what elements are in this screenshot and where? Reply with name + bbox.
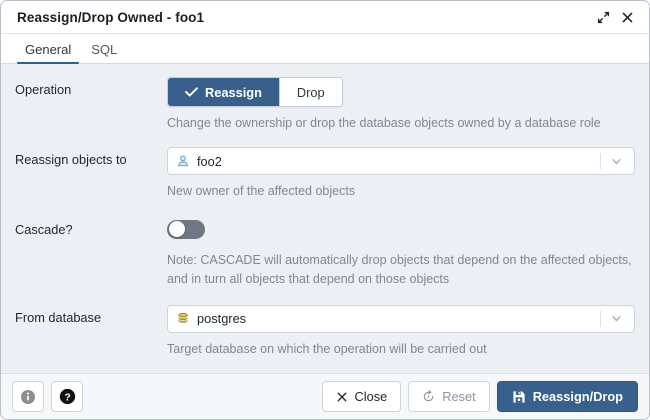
save-icon (512, 390, 526, 404)
from-database-control: postgres Target database on which the op… (167, 305, 635, 359)
field-row-cascade: Cascade? Note: CASCADE will automaticall… (15, 217, 635, 290)
question-mark-icon: ? (59, 388, 76, 405)
operation-segmented-control: Reassign Drop (167, 77, 343, 107)
from-database-value-wrap: postgres (176, 311, 600, 326)
reassign-to-control: foo2 New owner of the affected objects (167, 147, 635, 201)
user-role-icon (176, 154, 190, 168)
field-row-from-database: From database postgres (15, 305, 635, 359)
from-database-select[interactable]: postgres (167, 305, 635, 333)
select-separator (600, 311, 601, 327)
tab-general[interactable]: General (15, 42, 81, 63)
cascade-help-text: Note: CASCADE will automatically drop ob… (167, 251, 635, 290)
expand-icon[interactable] (591, 5, 615, 29)
reset-icon (422, 390, 435, 403)
cascade-label: Cascade? (15, 217, 167, 239)
database-icon (176, 312, 190, 326)
svg-text:?: ? (64, 392, 70, 403)
submit-button-label: Reassign/Drop (533, 389, 623, 404)
cascade-toggle[interactable] (167, 220, 205, 239)
dialog-tabs: General SQL (1, 34, 649, 64)
cascade-control: Note: CASCADE will automatically drop ob… (167, 217, 635, 290)
reassign-drop-owned-dialog: Reassign/Drop Owned - foo1 General SQL O… (0, 0, 650, 420)
operation-option-drop[interactable]: Drop (279, 78, 342, 106)
from-database-value: postgres (197, 311, 246, 326)
cascade-toggle-knob (169, 221, 185, 237)
help-button[interactable]: ? (51, 381, 83, 412)
reset-button[interactable]: Reset (408, 381, 489, 412)
close-x-icon (336, 391, 348, 403)
tab-sql[interactable]: SQL (81, 42, 127, 63)
operation-label: Operation (15, 77, 167, 99)
field-row-operation: Operation Reassign Drop Ch (15, 77, 635, 133)
from-database-label: From database (15, 305, 167, 327)
reassign-to-value-wrap: foo2 (176, 154, 600, 169)
dialog-body: Operation Reassign Drop Ch (1, 64, 649, 373)
dialog-footer: ? Close Reset (1, 373, 649, 419)
operation-option-reassign-label: Reassign (205, 85, 262, 100)
operation-control: Reassign Drop Change the ownership or dr… (167, 77, 635, 133)
field-row-reassign-to: Reassign objects to foo2 (15, 147, 635, 201)
reassign-to-help-text: New owner of the affected objects (167, 182, 635, 201)
operation-option-reassign[interactable]: Reassign (168, 78, 279, 106)
chevron-down-icon[interactable] (610, 312, 623, 325)
close-icon[interactable] (615, 5, 639, 29)
reassign-to-label: Reassign objects to (15, 147, 167, 169)
info-button[interactable] (12, 381, 44, 412)
select-separator (600, 153, 601, 169)
close-button-label: Close (355, 389, 388, 404)
dialog-titlebar: Reassign/Drop Owned - foo1 (1, 1, 649, 34)
close-button[interactable]: Close (322, 381, 402, 412)
check-icon (185, 87, 198, 97)
operation-option-drop-label: Drop (297, 85, 325, 100)
dialog-title: Reassign/Drop Owned - foo1 (17, 10, 591, 25)
info-icon (20, 389, 36, 405)
from-database-help-text: Target database on which the operation w… (167, 340, 635, 359)
reassign-to-value: foo2 (197, 154, 222, 169)
chevron-down-icon[interactable] (610, 155, 623, 168)
reset-button-label: Reset (442, 389, 475, 404)
operation-help-text: Change the ownership or drop the databas… (167, 114, 635, 133)
reassign-to-select[interactable]: foo2 (167, 147, 635, 175)
submit-reassign-drop-button[interactable]: Reassign/Drop (497, 381, 638, 412)
